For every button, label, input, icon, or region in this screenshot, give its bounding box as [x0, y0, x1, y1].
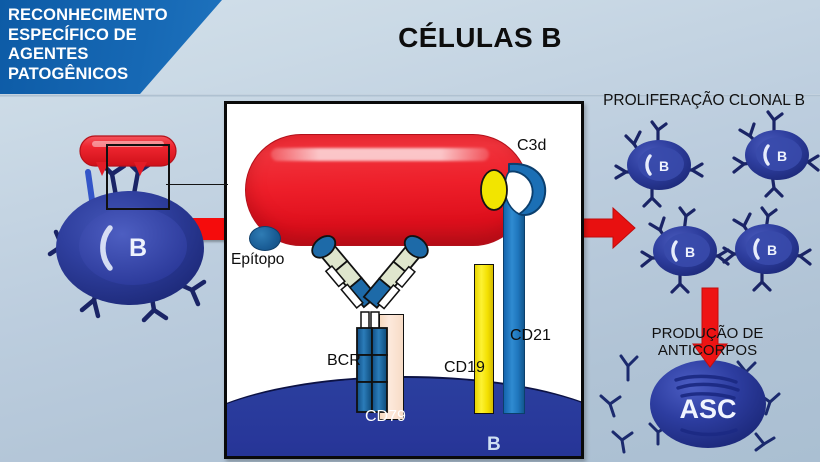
c3d-shape [479, 168, 509, 212]
antibody-production-label: PRODUÇÃO DE ANTICORPOS [615, 325, 800, 359]
cd79-label: CD79 [365, 408, 406, 426]
bcr-receptor [307, 228, 433, 418]
clone-b-cell-4: B [720, 206, 816, 292]
bcr-label: BCR [327, 352, 361, 370]
cd21-label: CD21 [510, 327, 551, 345]
header-banner-text: RECONHECIMENTO ESPECÍFICO DE AGENTES PAT… [8, 6, 223, 84]
epitope-label: Epítopo [231, 251, 284, 269]
asc-label: ASC [679, 394, 736, 424]
clone-label-2: B [777, 148, 787, 164]
banner-line-1: RECONHECIMENTO [8, 6, 223, 26]
clone-label-3: B [685, 244, 695, 260]
production-line-1: PRODUÇÃO DE [615, 325, 800, 342]
slide-canvas: RECONHECIMENTO ESPECÍFICO DE AGENTES PAT… [0, 0, 820, 462]
clone-label-4: B [767, 242, 777, 258]
page-title: CÉLULAS B [330, 22, 630, 54]
proliferation-label: PROLIFERAÇÃO CLONAL B [588, 92, 820, 110]
outbound-arrow-icon [580, 206, 636, 250]
cd21-receptor [503, 198, 525, 414]
magnification-connector [166, 184, 228, 185]
cd19-label: CD19 [444, 359, 485, 377]
magnification-box [106, 144, 170, 210]
banner-line-4: PATOGÊNICOS [8, 65, 223, 85]
clone-b-cell-2: B [730, 112, 820, 198]
membrane-b-label: B [487, 434, 501, 456]
banner-line-3: AGENTES [8, 45, 223, 65]
antigen-highlight [271, 148, 489, 161]
cd19-receptor [474, 264, 494, 414]
clone-b-cell-1: B [612, 122, 708, 208]
production-line-2: ANTICORPOS [615, 342, 800, 359]
detail-diagram-box: Epítopo C3d CD19 [224, 101, 584, 459]
svg-text:B: B [129, 234, 147, 262]
epitope-shape [249, 226, 281, 251]
c3d-label: C3d [517, 137, 546, 155]
clone-label-1: B [659, 158, 669, 174]
banner-line-2: ESPECÍFICO DE [8, 26, 223, 46]
